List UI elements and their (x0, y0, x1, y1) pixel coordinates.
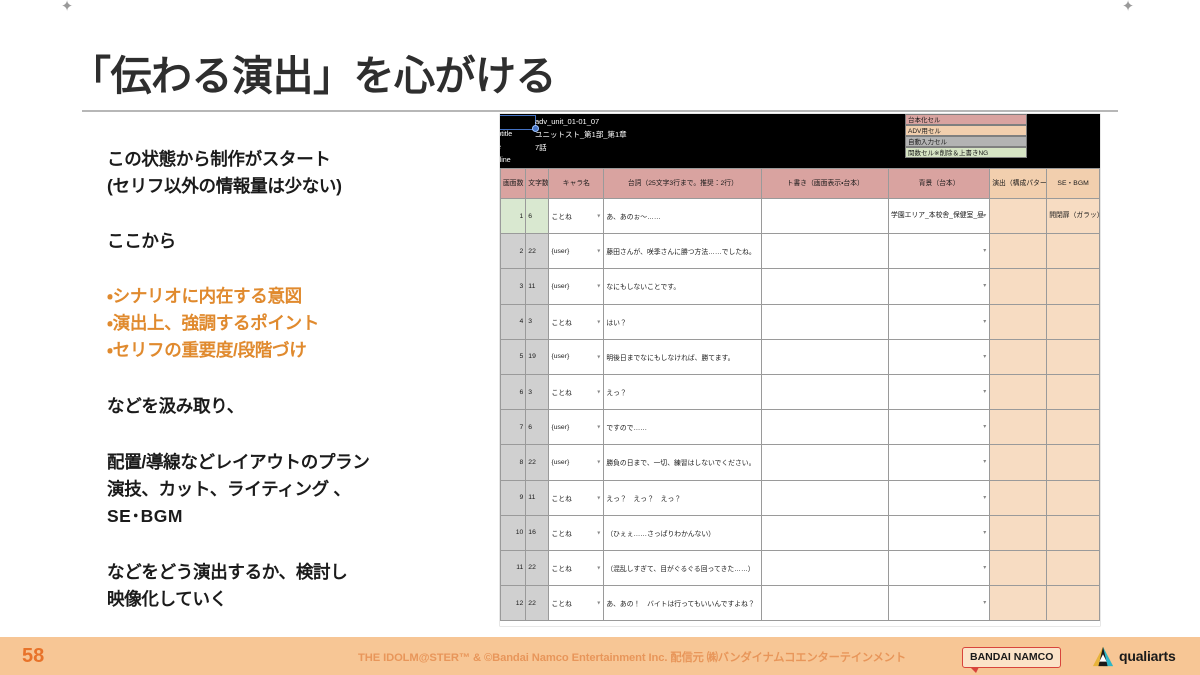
dropdown-caret-icon[interactable]: ▾ (597, 529, 600, 536)
left-text-column: この状態から制作がスタート (セリフ以外の情報量は少ない) ここから ・シナリオ… (107, 146, 467, 613)
text-block-3-highlights: ・シナリオに内在する意図 ・演出上、強調するポイント ・セリフの重要度/段階づけ (107, 283, 467, 364)
cell-background[interactable]: ▾ (889, 234, 990, 269)
cell-se-bgm[interactable]: 開閉扉（ガラッ） (1047, 199, 1100, 234)
cell-background[interactable]: ▾ (889, 304, 990, 339)
text-block-6: などをどう演出するか、検討し 映像化していく (107, 559, 467, 613)
cell-char-count[interactable]: 16 (526, 515, 549, 550)
text-line: 配置/導線などレイアウトのプラン (107, 449, 467, 476)
cell-character-text: ことね (551, 566, 571, 573)
cell-character-text: {user} (551, 459, 569, 466)
meta-label-subtitle: subtitle (500, 128, 534, 141)
cell-dialogue[interactable]: 藤田さんが、咲季さんに勝つ方法……でしたね。 (604, 234, 762, 269)
cell-enshutsu[interactable] (990, 586, 1047, 621)
cell-character-text: ことね (551, 601, 571, 608)
cell-character[interactable]: ことね▾ (549, 480, 604, 515)
col-header-character-name: キャラ名 (549, 169, 604, 199)
table-row[interactable]: 2 22 {user}▾ 藤田さんが、咲季さんに勝つ方法……でしたね。 ▾ (501, 234, 1100, 269)
cell-char-count[interactable]: 22 (526, 445, 549, 480)
table-row[interactable]: 9 11 ことね▾ えっ？ えっ？ えっ？ ▾ (501, 480, 1100, 515)
dropdown-caret-icon[interactable]: ▾ (597, 424, 600, 431)
cell-dialogue[interactable]: あ、あのぉ～…… (604, 199, 762, 234)
cell-dialogue[interactable]: えっ？ (604, 374, 762, 409)
cell-background[interactable]: ▾ (889, 445, 990, 480)
diamond-ornament-right-icon: ✦ (1121, 0, 1135, 14)
cell-enshutsu[interactable] (990, 445, 1047, 480)
slide-root: 「伝わる演出」を心がける ✦ ✦ この状態から制作がスタート (セリフ以外の情報… (0, 0, 1200, 675)
cell-stage-direction[interactable] (762, 269, 889, 304)
text-block-2: ここから (107, 228, 467, 255)
cell-se-bgm[interactable] (1047, 234, 1100, 269)
cell-dialogue[interactable]: あ、あの！ バイトは行ってもいいんですよね？ (604, 586, 762, 621)
table-row[interactable]: 1 6 ことね▾ あ、あのぉ～…… 学園エリア_本校舎_保健室_昼▾ 開閉扉（ガ… (501, 199, 1100, 234)
cell-se-bgm[interactable] (1047, 410, 1100, 445)
cell-dialogue[interactable]: はい？ (604, 304, 762, 339)
dropdown-caret-icon[interactable]: ▾ (983, 247, 986, 255)
col-header-background: 背景（台本） (889, 169, 990, 199)
cell-background[interactable]: ▾ (889, 586, 990, 621)
divider-line (82, 110, 1118, 112)
cell-character[interactable]: {user}▾ (549, 234, 604, 269)
cell-screen-count[interactable]: 1 (501, 199, 526, 234)
cell-character-text: ことね (551, 496, 571, 503)
cell-character[interactable]: {user}▾ (549, 339, 604, 374)
cell-screen-count[interactable]: 9 (501, 480, 526, 515)
cell-se-bgm[interactable] (1047, 269, 1100, 304)
cell-stage-direction[interactable] (762, 445, 889, 480)
cell-character[interactable]: ことね▾ (549, 586, 604, 621)
cell-character-text: {user} (551, 248, 569, 255)
cell-se-bgm[interactable] (1047, 515, 1100, 550)
cell-stage-direction[interactable] (762, 550, 889, 585)
cell-char-count[interactable]: 22 (526, 550, 549, 585)
qualiarts-logo: qualiarts (1092, 645, 1192, 669)
cell-dialogue[interactable]: なにもしないことです。 (604, 269, 762, 304)
text-line: 演技、カット、ライティング 、 (107, 476, 467, 503)
dropdown-caret-icon[interactable]: ▾ (983, 564, 986, 572)
cell-character[interactable]: {user}▾ (549, 410, 604, 445)
legend-item-script-cell: 台本化セル (905, 114, 1027, 125)
cell-background-text: 学園エリア_本校舎_保健室_昼 (891, 212, 984, 219)
cell-enshutsu[interactable] (990, 199, 1047, 234)
cell-screen-count[interactable]: 4 (501, 304, 526, 339)
dropdown-caret-icon[interactable]: ▾ (597, 318, 600, 325)
text-line-se-bgm: SE･BGM (107, 503, 467, 530)
cell-character[interactable]: ことね▾ (549, 199, 604, 234)
qualiarts-triangle-icon (1092, 646, 1114, 668)
meta-label-outline: outline (500, 154, 534, 167)
cell-enshutsu[interactable] (990, 410, 1047, 445)
highlight-line: ・シナリオに内在する意図 (107, 283, 467, 310)
cell-background[interactable]: ▾ (889, 480, 990, 515)
cell-dialogue[interactable]: 明後日までなにもしなければ、勝てます。 (604, 339, 762, 374)
cell-char-count[interactable]: 11 (526, 480, 549, 515)
cell-screen-count[interactable]: 11 (501, 550, 526, 585)
dropdown-caret-icon[interactable]: ▾ (983, 458, 986, 466)
legend-item-auto-input-cell: 自動入力セル (905, 136, 1027, 147)
cell-char-count[interactable]: 11 (526, 269, 549, 304)
dropdown-caret-icon[interactable]: ▾ (597, 248, 600, 255)
dropdown-caret-icon[interactable]: ▾ (983, 353, 986, 361)
spreadsheet-header-black: ID adv_unit_01-01_07 subtitle ユニットスト_第1部… (500, 114, 1100, 168)
cell-character[interactable]: ことね▾ (549, 304, 604, 339)
slide-footer: 58 THE IDOLM@STER™ & ©Bandai Namco Enter… (0, 637, 1200, 675)
table-row[interactable]: 3 11 {user}▾ なにもしないことです。 ▾ (501, 269, 1100, 304)
cell-char-count[interactable]: 19 (526, 339, 549, 374)
cell-enshutsu[interactable] (990, 234, 1047, 269)
dropdown-caret-icon[interactable]: ▾ (983, 318, 986, 326)
cell-background[interactable]: ▾ (889, 515, 990, 550)
cell-character[interactable]: {user}▾ (549, 445, 604, 480)
cell-stage-direction[interactable] (762, 304, 889, 339)
text-block-5: 配置/導線などレイアウトのプラン 演技、カット、ライティング 、 SE･BGM (107, 449, 467, 530)
cell-dialogue[interactable]: （ひぇぇ……さっぱりわかんない） (604, 515, 762, 550)
cell-character-text: {user} (551, 424, 569, 431)
cell-character-text: {user} (551, 353, 569, 360)
bandai-namco-logo: BANDAI NAMCO (962, 647, 1061, 668)
cell-screen-count[interactable]: 3 (501, 269, 526, 304)
highlight-line: ・セリフの重要度/段階づけ (107, 337, 467, 364)
text-line: 映像化していく (107, 586, 467, 613)
dropdown-caret-icon[interactable]: ▾ (983, 529, 986, 537)
text-line: ここから (107, 228, 467, 255)
text-line: などをどう演出するか、検討し (107, 559, 467, 586)
cell-background[interactable]: ▾ (889, 339, 990, 374)
highlight-line: ・演出上、強調するポイント (107, 310, 467, 337)
text-block-4: などを汲み取り、 (107, 393, 467, 420)
text-line: この状態から制作がスタート (107, 146, 467, 173)
cell-character-text: ことね (551, 531, 571, 538)
dropdown-caret-icon[interactable]: ▾ (597, 494, 600, 501)
spacer (107, 255, 467, 283)
cell-char-count[interactable]: 6 (526, 410, 549, 445)
dropdown-caret-icon[interactable]: ▾ (983, 282, 986, 290)
col-header-screen-count: 画面数 (501, 169, 526, 199)
cell-stage-direction[interactable] (762, 374, 889, 409)
cell-screen-count[interactable]: 6 (501, 374, 526, 409)
cell-character-text: ことね (551, 390, 571, 397)
cell-stage-direction[interactable] (762, 515, 889, 550)
spacer (107, 364, 467, 393)
dropdown-caret-icon[interactable]: ▾ (597, 600, 600, 607)
cell-char-count[interactable]: 22 (526, 586, 549, 621)
cell-se-bgm[interactable] (1047, 550, 1100, 585)
cell-se-bgm[interactable] (1047, 304, 1100, 339)
cell-stage-direction[interactable] (762, 586, 889, 621)
dropdown-caret-icon[interactable]: ▾ (983, 494, 986, 502)
spreadsheet-screenshot: ID adv_unit_01-01_07 subtitle ユニットスト_第1部… (500, 114, 1100, 626)
cell-stage-direction[interactable] (762, 339, 889, 374)
legend-item-formula-cell: 関数セル※削除＆上書きNG (905, 147, 1027, 158)
col-header-se-bgm: SE・BGM (1047, 169, 1100, 199)
dropdown-caret-icon[interactable]: ▾ (983, 212, 986, 220)
page-title: 「伝わる演出」を心がける (70, 42, 556, 102)
cell-se-bgm[interactable] (1047, 586, 1100, 621)
cell-screen-count[interactable]: 8 (501, 445, 526, 480)
legend-item-adv-cell: ADV用セル (905, 125, 1027, 136)
cell-stage-direction[interactable] (762, 410, 889, 445)
text-block-1: この状態から制作がスタート (セリフ以外の情報量は少ない) (107, 146, 467, 200)
spacer (107, 530, 467, 559)
cell-char-count[interactable]: 3 (526, 374, 549, 409)
cell-enshutsu[interactable] (990, 339, 1047, 374)
dropdown-caret-icon[interactable]: ▾ (597, 389, 600, 396)
cell-char-count[interactable]: 6 (526, 199, 549, 234)
dropdown-caret-icon[interactable]: ▾ (983, 388, 986, 396)
table-row[interactable]: 4 3 ことね▾ はい？ ▾ (501, 304, 1100, 339)
cell-enshutsu[interactable] (990, 374, 1047, 409)
cell-dialogue[interactable]: ですので…… (604, 410, 762, 445)
diamond-ornament-left-icon: ✦ (60, 0, 74, 14)
meta-label-title: title (500, 141, 534, 154)
cell-se-bgm[interactable] (1047, 480, 1100, 515)
cell-background[interactable]: ▾ (889, 269, 990, 304)
copyright-text: THE IDOLM@STER™ & ©Bandai Namco Entertai… (358, 649, 906, 665)
table-header: 画面数 文字数 キャラ名 台詞（25文字3行まで。推奨：2行） ト書き（画面表示… (501, 169, 1100, 199)
table-row[interactable]: 11 22 ことね▾ （混乱しすぎて、目がぐるぐる回ってきた……） ▾ (501, 550, 1100, 585)
cell-enshutsu[interactable] (990, 269, 1047, 304)
cell-enshutsu[interactable] (990, 480, 1047, 515)
table-body: 1 6 ことね▾ あ、あのぉ～…… 学園エリア_本校舎_保健室_昼▾ 開閉扉（ガ… (501, 199, 1100, 621)
table-row[interactable]: 7 6 {user}▾ ですので…… ▾ (501, 410, 1100, 445)
cell-dialogue[interactable]: えっ？ えっ？ えっ？ (604, 480, 762, 515)
cell-screen-count[interactable]: 12 (501, 586, 526, 621)
legend-group: 台本化セル ADV用セル 自動入力セル 関数セル※削除＆上書きNG (905, 114, 1027, 158)
qualiarts-logo-text: qualiarts (1119, 648, 1176, 664)
cell-background[interactable]: ▾ (889, 374, 990, 409)
cell-character-text: {user} (551, 283, 569, 290)
cell-char-count[interactable]: 22 (526, 234, 549, 269)
cell-character-text: ことね (551, 214, 571, 221)
dropdown-caret-icon[interactable]: ▾ (983, 599, 986, 607)
cell-dialogue[interactable]: 勝負の日まで、一切、練習はしないでください。 (604, 445, 762, 480)
cell-character-text: ことね (551, 320, 571, 327)
cell-se-bgm[interactable] (1047, 445, 1100, 480)
cell-se-bgm[interactable] (1047, 374, 1100, 409)
table-row[interactable]: 12 22 ことね▾ あ、あの！ バイトは行ってもいいんですよね？ ▾ (501, 586, 1100, 621)
cell-se-bgm[interactable] (1047, 339, 1100, 374)
text-line: (セリフ以外の情報量は少ない) (107, 173, 467, 200)
col-header-char-count: 文字数 (526, 169, 549, 199)
cell-enshutsu[interactable] (990, 515, 1047, 550)
meta-value-title: 7話 (535, 141, 547, 154)
script-table: 画面数 文字数 キャラ名 台詞（25文字3行まで。推奨：2行） ト書き（画面表示… (500, 168, 1100, 621)
dropdown-caret-icon[interactable]: ▾ (597, 459, 600, 466)
table-row[interactable]: 6 3 ことね▾ えっ？ ▾ (501, 374, 1100, 409)
cell-screen-count[interactable]: 7 (501, 410, 526, 445)
cell-background[interactable]: 学園エリア_本校舎_保健室_昼▾ (889, 199, 990, 234)
table-row[interactable]: 10 16 ことね▾ （ひぇぇ……さっぱりわかんない） ▾ (501, 515, 1100, 550)
cell-screen-count[interactable]: 10 (501, 515, 526, 550)
cell-stage-direction[interactable] (762, 234, 889, 269)
table-row[interactable]: 5 19 {user}▾ 明後日までなにもしなければ、勝てます。 ▾ (501, 339, 1100, 374)
meta-value-id: adv_unit_01-01_07 (535, 115, 599, 128)
cell-character[interactable]: {user}▾ (549, 269, 604, 304)
cell-character[interactable]: ことね▾ (549, 374, 604, 409)
dropdown-caret-icon[interactable]: ▾ (597, 353, 600, 360)
col-header-stage-direction: ト書き（画面表示・台本） (762, 169, 889, 199)
text-line: などを汲み取り、 (107, 393, 467, 420)
cell-screen-count[interactable]: 2 (501, 234, 526, 269)
col-header-enshutsu: 演出（構成パターン6種） (990, 169, 1047, 199)
cell-background[interactable]: ▾ (889, 410, 990, 445)
cell-stage-direction[interactable] (762, 480, 889, 515)
dropdown-caret-icon[interactable]: ▾ (983, 423, 986, 431)
spacer (107, 420, 467, 449)
cell-background[interactable]: ▾ (889, 550, 990, 585)
spacer (107, 200, 467, 228)
col-header-dialogue: 台詞（25文字3行まで。推奨：2行） (604, 169, 762, 199)
cell-stage-direction[interactable] (762, 199, 889, 234)
table-header-row: 画面数 文字数 キャラ名 台詞（25文字3行まで。推奨：2行） ト書き（画面表示… (501, 169, 1100, 199)
page-number: 58 (22, 645, 44, 668)
cell-enshutsu[interactable] (990, 550, 1047, 585)
dropdown-caret-icon[interactable]: ▾ (597, 283, 600, 290)
dropdown-caret-icon[interactable]: ▾ (597, 213, 600, 220)
cell-char-count[interactable]: 3 (526, 304, 549, 339)
dropdown-caret-icon[interactable]: ▾ (597, 564, 600, 571)
meta-value-subtitle: ユニットスト_第1部_第1章 (535, 128, 627, 141)
cell-dialogue[interactable]: （混乱しすぎて、目がぐるぐる回ってきた……） (604, 550, 762, 585)
cell-screen-count[interactable]: 5 (501, 339, 526, 374)
cell-character[interactable]: ことね▾ (549, 515, 604, 550)
meta-label-id: ID (500, 115, 534, 128)
cell-character[interactable]: ことね▾ (549, 550, 604, 585)
cell-enshutsu[interactable] (990, 304, 1047, 339)
table-row[interactable]: 8 22 {user}▾ 勝負の日まで、一切、練習はしないでください。 ▾ (501, 445, 1100, 480)
